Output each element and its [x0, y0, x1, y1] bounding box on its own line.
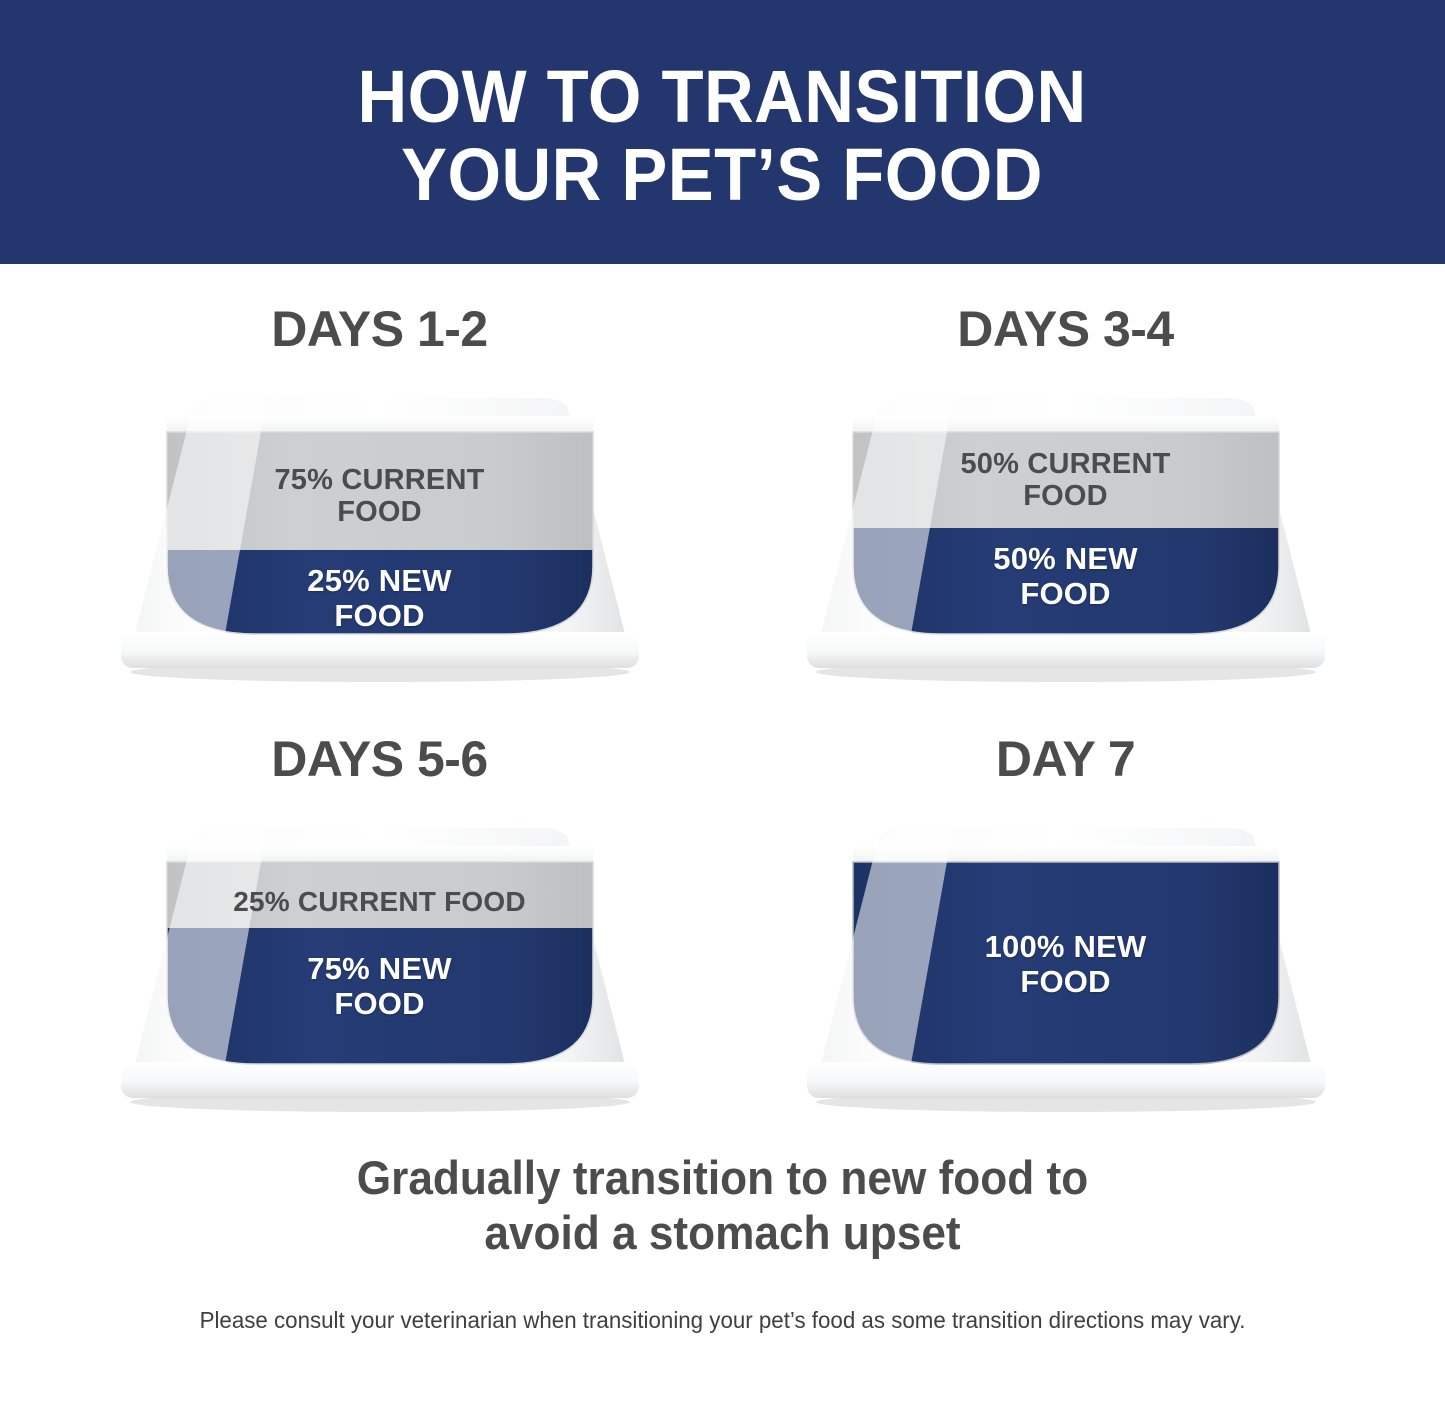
header-banner: HOW TO TRANSITION YOUR PET’S FOOD: [0, 0, 1445, 264]
steps-row-top: DAYS 1-2: [0, 300, 1445, 686]
bowl-graphic: [85, 376, 675, 686]
bowl-illustration-days-5-6: 25% CURRENT FOOD 75% NEW FOOD: [85, 806, 675, 1116]
bowl-graphic: [771, 376, 1361, 686]
step-card-days-5-6: DAYS 5-6: [85, 730, 675, 1116]
bowl-graphic: [771, 806, 1361, 1116]
transition-steps-grid: DAYS 1-2: [0, 264, 1445, 1116]
step-title: DAYS 5-6: [271, 730, 487, 788]
steps-row-bottom: DAYS 5-6: [0, 730, 1445, 1116]
footer-disclaimer: Please consult your veterinarian when tr…: [22, 1307, 1424, 1334]
step-card-day-7: DAY 7 100% NEW FOOD: [771, 730, 1361, 1116]
footer: Gradually transition to new food to avoi…: [0, 1150, 1445, 1334]
step-card-days-1-2: DAYS 1-2: [85, 300, 675, 686]
step-card-days-3-4: DAYS 3-4: [771, 300, 1361, 686]
step-title: DAY 7: [996, 730, 1135, 788]
bowl-illustration-days-1-2: 75% CURRENT FOOD 25% NEW FOOD: [85, 376, 675, 686]
bowl-graphic: [85, 806, 675, 1116]
footer-headline: Gradually transition to new food to avoi…: [43, 1150, 1401, 1261]
bowl-illustration-days-3-4: 50% CURRENT FOOD 50% NEW FOOD: [771, 376, 1361, 686]
page-title-line-2: YOUR PET’S FOOD: [402, 136, 1044, 214]
step-title: DAYS 1-2: [271, 300, 487, 358]
step-title: DAYS 3-4: [957, 300, 1173, 358]
bowl-illustration-day-7: 100% NEW FOOD: [771, 806, 1361, 1116]
page-title-line-1: HOW TO TRANSITION: [358, 58, 1087, 136]
